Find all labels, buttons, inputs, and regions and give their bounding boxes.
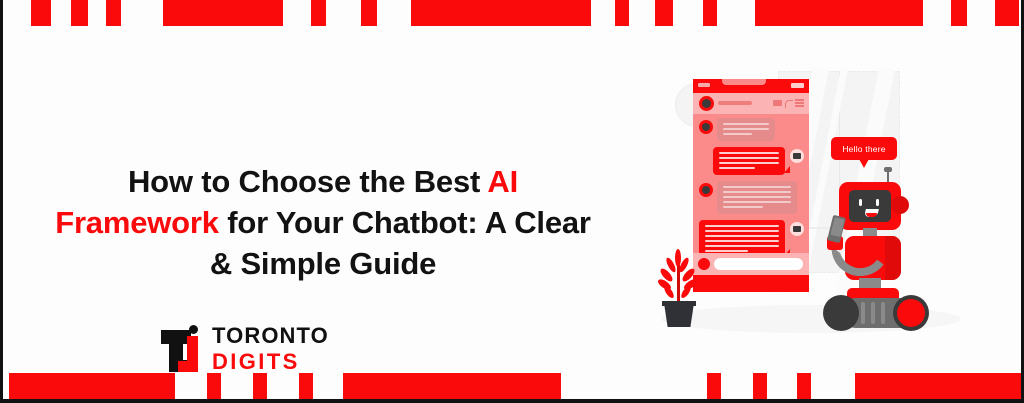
chat-bubble-line xyxy=(705,245,779,247)
reply-icon[interactable] xyxy=(785,100,793,108)
plant-pot xyxy=(664,303,694,327)
robot-wheel-left xyxy=(823,295,859,331)
decor-bar xyxy=(753,373,767,399)
plant-leaf xyxy=(663,285,676,300)
chat-window xyxy=(693,79,809,292)
chat-bubble[interactable] xyxy=(713,147,785,175)
robot-phone-icon xyxy=(827,215,846,243)
decor-bar xyxy=(411,0,591,26)
brand-wordmark: TORONTO DIGITS xyxy=(212,325,329,373)
decor-bar xyxy=(707,373,721,399)
robot-avatar xyxy=(790,222,804,236)
person-avatar xyxy=(699,120,713,134)
decor-bar xyxy=(299,373,313,399)
chat-bubble-line xyxy=(723,186,791,188)
chat-bubble[interactable] xyxy=(717,181,797,214)
battery-icon xyxy=(791,83,804,88)
person-avatar xyxy=(699,183,713,197)
message-composer[interactable] xyxy=(693,253,809,275)
brand-logo[interactable]: TORONTO DIGITS xyxy=(161,324,329,374)
headline-accent-framework: Framework xyxy=(55,205,219,240)
decor-bar xyxy=(615,0,629,26)
decor-bar xyxy=(9,373,175,399)
decor-bar xyxy=(797,373,811,399)
speech-bubble: Hello there xyxy=(831,137,897,160)
robot-wheel-right xyxy=(893,295,929,331)
chat-bubble-line xyxy=(719,152,779,154)
robot-eye-left xyxy=(859,199,862,206)
potted-plant xyxy=(659,247,699,329)
phone-status-bar xyxy=(693,79,809,93)
blog-banner: How to Choose the Best AI Framework for … xyxy=(0,0,1024,403)
robot-eye-right xyxy=(876,199,879,206)
chat-bubble-line xyxy=(723,201,791,203)
message-thread[interactable] xyxy=(693,114,809,253)
contact-name xyxy=(718,101,752,105)
decor-bar xyxy=(106,0,121,26)
decor-bar xyxy=(703,0,717,26)
robot-avatar xyxy=(790,149,804,163)
chat-bubble-line xyxy=(705,225,779,227)
chat-bubble[interactable] xyxy=(717,118,775,141)
phone-notch xyxy=(722,79,766,85)
decor-bar xyxy=(855,373,1023,399)
brand-word-digits: DIGITS xyxy=(212,351,329,373)
chat-bubble-line xyxy=(719,162,779,164)
mic-button[interactable] xyxy=(698,258,710,270)
decor-bar xyxy=(253,373,267,399)
headline-part-1: How to Choose the Best xyxy=(128,164,487,199)
decor-bar xyxy=(343,373,561,399)
speech-bubble-text: Hello there xyxy=(842,144,885,154)
contact-avatar[interactable] xyxy=(699,96,714,111)
chat-bubble-line xyxy=(719,157,779,159)
menu-icon[interactable] xyxy=(795,99,804,101)
decor-bar xyxy=(71,0,88,26)
decor-bar xyxy=(31,0,51,26)
decor-bar xyxy=(207,373,221,399)
chat-bubble-line xyxy=(723,206,763,208)
chat-bubble-line xyxy=(705,240,779,242)
chat-bubble-line xyxy=(723,191,791,193)
chat-bubble-line xyxy=(705,235,779,237)
chat-bubble-line xyxy=(723,128,769,130)
plant-leaf xyxy=(680,285,693,300)
decor-bar xyxy=(655,0,673,26)
chat-bubble-line xyxy=(705,250,748,252)
video-icon[interactable] xyxy=(773,100,782,106)
decor-bar xyxy=(951,0,967,26)
robot-figure xyxy=(825,170,945,330)
decor-bar xyxy=(163,0,283,26)
status-time xyxy=(698,83,710,87)
robot-face-screen xyxy=(849,190,891,222)
chat-bubble-line xyxy=(719,167,755,169)
headline-part-3: for Your Chatbot: A Clear & Simple Guide xyxy=(210,205,591,281)
robot-ear xyxy=(891,196,909,214)
message-input[interactable] xyxy=(714,258,803,270)
content-column: How to Choose the Best AI Framework for … xyxy=(3,26,643,377)
chat-bubble-line xyxy=(723,196,791,198)
decor-bar xyxy=(995,0,1019,26)
decor-bar xyxy=(755,0,923,26)
chat-header xyxy=(693,93,809,114)
decor-bar xyxy=(311,0,326,26)
brand-word-toronto: TORONTO xyxy=(212,325,329,347)
bottom-barcode-strip xyxy=(3,373,1021,399)
chat-bubble-line xyxy=(723,133,752,135)
chat-bubble-line xyxy=(723,123,769,125)
chat-bubble-line xyxy=(705,230,779,232)
decor-bar xyxy=(361,0,377,26)
headline-accent-ai: AI xyxy=(487,164,518,199)
td-monogram-icon xyxy=(161,324,205,374)
page-title: How to Choose the Best AI Framework for … xyxy=(43,162,603,285)
top-barcode-strip xyxy=(3,0,1021,26)
phone-footer xyxy=(693,275,809,292)
chatbot-illustration: Hello there xyxy=(653,55,1023,365)
